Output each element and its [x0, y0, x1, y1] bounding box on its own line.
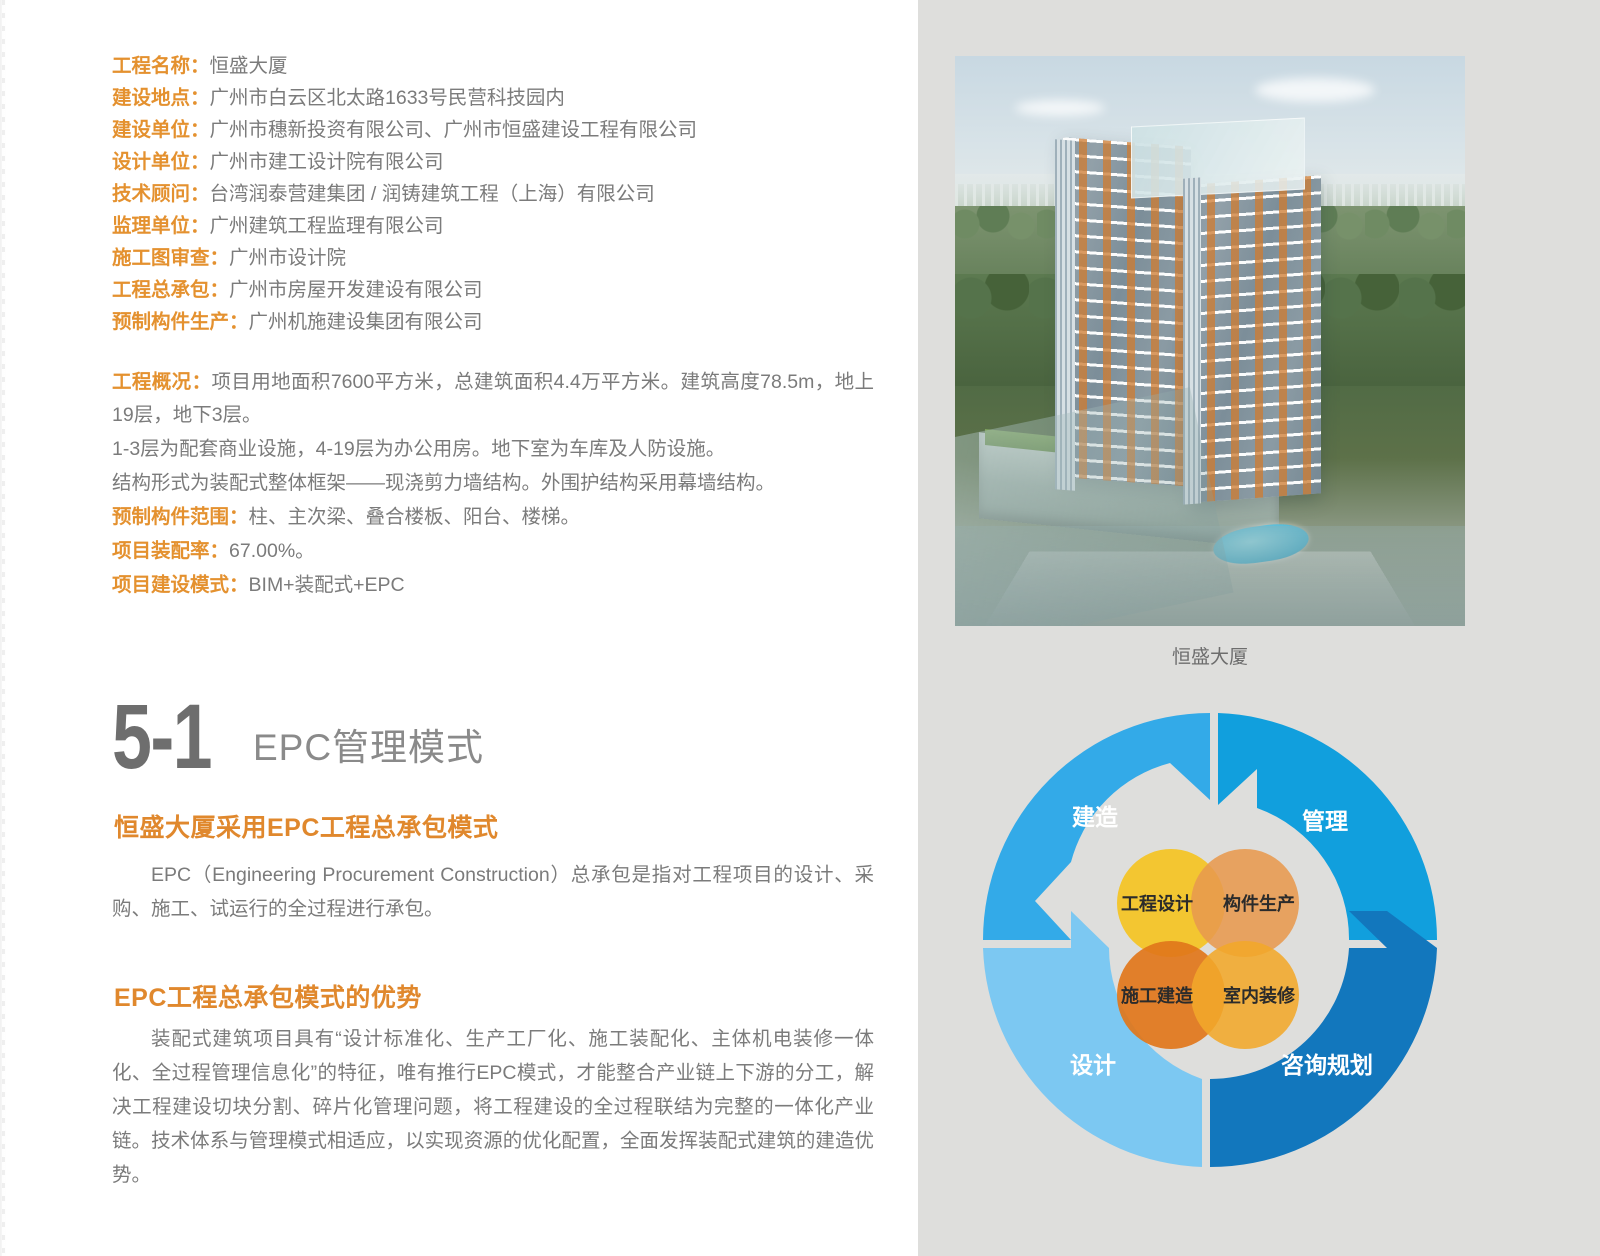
info-value: 广州建筑工程监理有限公司 — [210, 215, 444, 237]
project-info-list: 工程名称：恒盛大厦 建设地点：广州市白云区北太路1633号民营科技园内 建设单位… — [112, 50, 872, 338]
overview-text: 1-3层为配套商业设施，4-19层为办公用房。地下室为车库及人防设施。 — [112, 438, 725, 460]
info-label: 建设地点： — [112, 87, 210, 109]
info-label: 技术顾问： — [112, 183, 210, 205]
info-value: 广州市白云区北太路1633号民营科技园内 — [210, 87, 565, 109]
epc-segment-label-bottom-left: 设计 — [1070, 1052, 1116, 1078]
epc-inner-label-bottom-right: 室内装修 — [1223, 985, 1296, 1006]
info-label: 施工图审查： — [112, 247, 229, 269]
subsection-body-epc-mode: EPC（Engineering Procurement Construction… — [112, 858, 874, 926]
info-label: 工程总承包： — [112, 279, 229, 301]
left-page-surface: 工程名称：恒盛大厦 建设地点：广州市白云区北太路1633号民营科技园内 建设单位… — [0, 0, 918, 1256]
info-label: 预制构件生产： — [112, 311, 249, 333]
info-row: 预制构件生产：广州机施建设集团有限公司 — [112, 306, 872, 338]
epc-segment-label-top-right: 管理 — [1302, 808, 1348, 834]
epc-diagram-svg: 建造 管理 咨询规划 设计 工程设计 构件生产 施工建造 室内装修 — [975, 705, 1445, 1175]
epc-inner-label-bottom-left: 施工建造 — [1121, 985, 1193, 1006]
tower-block-right — [1191, 175, 1321, 503]
overview-label: 项目建设模式： — [112, 574, 249, 596]
info-label: 建设单位： — [112, 119, 210, 141]
info-value: 广州市建工设计院有限公司 — [210, 151, 444, 173]
cloud-shape — [1015, 100, 1105, 116]
overview-paragraph: 1-3层为配套商业设施，4-19层为办公用房。地下室为车库及人防设施。 — [112, 433, 874, 466]
info-value: 广州市设计院 — [229, 247, 346, 269]
subsection-heading-epc-advantages: EPC工程总承包模式的优势 — [114, 978, 422, 1014]
overview-paragraph: 项目建设模式：BIM+装配式+EPC — [112, 569, 874, 602]
info-row: 监理单位：广州建筑工程监理有限公司 — [112, 210, 872, 242]
overview-text: BIM+装配式+EPC — [249, 574, 405, 596]
overview-paragraph: 工程概况：项目用地面积7600平方米，总建筑面积4.4万平方米。建筑高度78.5… — [112, 366, 874, 432]
info-label: 工程名称： — [112, 55, 210, 77]
info-row: 设计单位：广州市建工设计院有限公司 — [112, 146, 872, 178]
overview-text: 结构形式为装配式整体框架——现浇剪力墙结构。外围护结构采用幕墙结构。 — [112, 472, 775, 494]
subsection-body-epc-advantages: 装配式建筑项目具有“设计标准化、生产工厂化、施工装配化、主体机电装修一体化、全过… — [112, 1022, 874, 1192]
overview-paragraph: 结构形式为装配式整体框架——现浇剪力墙结构。外围护结构采用幕墙结构。 — [112, 467, 874, 500]
section-number: 5-1 — [112, 700, 211, 775]
overview-text: 柱、主次梁、叠合楼板、阳台、楼梯。 — [249, 506, 581, 528]
foreground-glass-overlay — [955, 526, 1465, 626]
info-value: 恒盛大厦 — [210, 55, 288, 77]
page-binding-perforation — [2, 0, 5, 1256]
info-row: 建设单位：广州市穗新投资有限公司、广州市恒盛建设工程有限公司 — [112, 114, 872, 146]
info-label: 监理单位： — [112, 215, 210, 237]
page-root: 工程名称：恒盛大厦 建设地点：广州市白云区北太路1633号民营科技园内 建设单位… — [0, 0, 1600, 1256]
tower-crown-glass — [1131, 117, 1305, 198]
overview-text: 项目用地面积7600平方米，总建筑面积4.4万平方米。建筑高度78.5m，地上1… — [112, 371, 874, 426]
overview-label: 项目装配率： — [112, 540, 229, 562]
overview-text: 67.00%。 — [229, 540, 315, 562]
info-row: 工程名称：恒盛大厦 — [112, 50, 872, 82]
epc-inner-label-top-left: 工程设计 — [1121, 893, 1193, 914]
info-value: 广州市房屋开发建设有限公司 — [229, 279, 483, 301]
subsection-heading-epc-mode: 恒盛大厦采用EPC工程总承包模式 — [114, 808, 498, 844]
epc-segment-label-top-left: 建造 — [1072, 804, 1119, 830]
overview-label: 预制构件范围： — [112, 506, 249, 528]
info-value: 广州市穗新投资有限公司、广州市恒盛建设工程有限公司 — [210, 119, 698, 141]
info-value: 广州机施建设集团有限公司 — [249, 311, 483, 333]
photo-caption: 恒盛大厦 — [955, 642, 1465, 669]
info-row: 工程总承包：广州市房屋开发建设有限公司 — [112, 274, 872, 306]
info-value: 台湾润泰营建集团 / 润铸建筑工程（上海）有限公司 — [210, 183, 655, 205]
cloud-shape — [1255, 78, 1375, 102]
building-rendering-photo — [955, 56, 1465, 626]
epc-cycle-diagram: 建造 管理 咨询规划 设计 工程设计 构件生产 施工建造 室内装修 — [975, 705, 1445, 1175]
epc-inner-label-top-right: 构件生产 — [1223, 893, 1295, 914]
section-title: EPC管理模式 — [253, 717, 484, 775]
overview-paragraph: 预制构件范围：柱、主次梁、叠合楼板、阳台、楼梯。 — [112, 501, 874, 534]
info-label: 设计单位： — [112, 151, 210, 173]
section-heading: 5-1 EPC管理模式 — [112, 700, 484, 775]
overview-label: 工程概况： — [112, 371, 211, 393]
epc-inner-circle-group — [1117, 849, 1299, 1049]
epc-segment-label-bottom-right: 咨询规划 — [1281, 1052, 1373, 1078]
info-row: 技术顾问：台湾润泰营建集团 / 润铸建筑工程（上海）有限公司 — [112, 178, 872, 210]
info-row: 施工图审查：广州市设计院 — [112, 242, 872, 274]
tower-balcony-panels — [1191, 175, 1321, 503]
project-overview: 工程概况：项目用地面积7600平方米，总建筑面积4.4万平方米。建筑高度78.5… — [112, 366, 874, 603]
info-row: 建设地点：广州市白云区北太路1633号民营科技园内 — [112, 82, 872, 114]
overview-paragraph: 项目装配率：67.00%。 — [112, 535, 874, 568]
page-binding-strip — [0, 0, 6, 1256]
